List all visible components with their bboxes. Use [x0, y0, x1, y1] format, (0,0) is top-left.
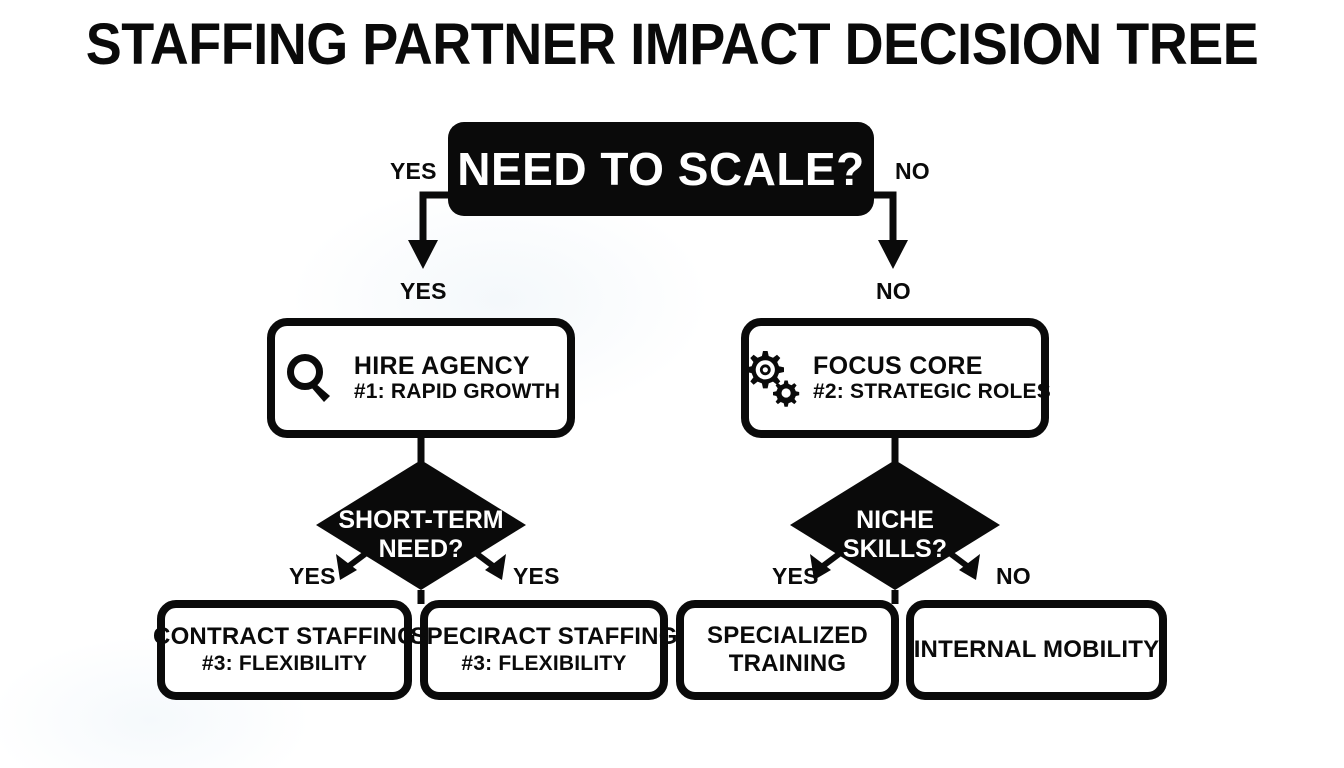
right-node-subtitle: #2: STRATEGIC ROLES [813, 380, 1051, 405]
left-node-textblock: HIRE AGENCY #1: RAPID GROWTH [354, 352, 560, 405]
left-decision-label-left: YES [289, 565, 336, 588]
leaf-internal-mobility[interactable]: INTERNAL MOBILITY [910, 604, 1163, 696]
magnifier-icon [282, 350, 338, 406]
arrowhead-root-left [408, 240, 438, 269]
right-node-textblock: FOCUS CORE #2: STRATEGIC ROLES [813, 352, 1051, 405]
leaf-speciract-staffing[interactable]: SPECIRACT STAFFING #3: FLEXIBILITY [424, 604, 664, 696]
diagram-canvas: STAFFING PARTNER IMPACT DECISION TREE [0, 0, 1344, 768]
leaf-subtitle: #3: FLEXIBILITY [461, 651, 626, 676]
left-node-subtitle: #1: RAPID GROWTH [354, 380, 560, 405]
root-node-label: NEED TO SCALE? [448, 146, 874, 192]
root-branch-label-yes: YES [400, 280, 447, 303]
leaf-title-line1: SPECIALIZED [707, 622, 868, 650]
arrowhead-root-right [878, 240, 908, 269]
connector-root-to-left [423, 195, 448, 242]
right-decision-line1: NICHE [790, 506, 1000, 535]
leaf-title: INTERNAL MOBILITY [914, 636, 1160, 664]
left-decision-label: SHORT-TERM NEED? [316, 506, 526, 563]
left-decision-label-right: YES [513, 565, 560, 588]
left-node[interactable]: HIRE AGENCY #1: RAPID GROWTH [271, 322, 571, 434]
right-decision-label-right: NO [996, 565, 1031, 588]
right-decision-label-left: YES [772, 565, 819, 588]
root-branch-label-no: NO [876, 280, 911, 303]
right-decision-label: NICHE SKILLS? [790, 506, 1000, 563]
left-node-title: HIRE AGENCY [354, 352, 560, 380]
leaf-title: CONTRACT STAFFING [153, 623, 416, 651]
left-decision-line1: SHORT-TERM [316, 506, 526, 535]
leaf-contract-staffing[interactable]: CONTRACT STAFFING #3: FLEXIBILITY [161, 604, 408, 696]
root-side-label-yes: YES [390, 160, 437, 183]
right-node[interactable]: FOCUS CORE #2: STRATEGIC ROLES [745, 322, 1045, 434]
right-node-title: FOCUS CORE [813, 352, 1051, 380]
right-decision-line2: SKILLS? [790, 535, 1000, 564]
leaf-title: SPECIRACT STAFFING [410, 623, 677, 651]
left-decision-line2: NEED? [316, 535, 526, 564]
root-side-label-no: NO [895, 160, 930, 183]
gears-icon [739, 349, 801, 407]
leaf-subtitle: #3: FLEXIBILITY [202, 651, 367, 676]
connector-root-to-right [874, 195, 893, 242]
leaf-title-line2: TRAINING [729, 650, 847, 678]
leaf-specialized-training[interactable]: SPECIALIZED TRAINING [680, 604, 895, 696]
